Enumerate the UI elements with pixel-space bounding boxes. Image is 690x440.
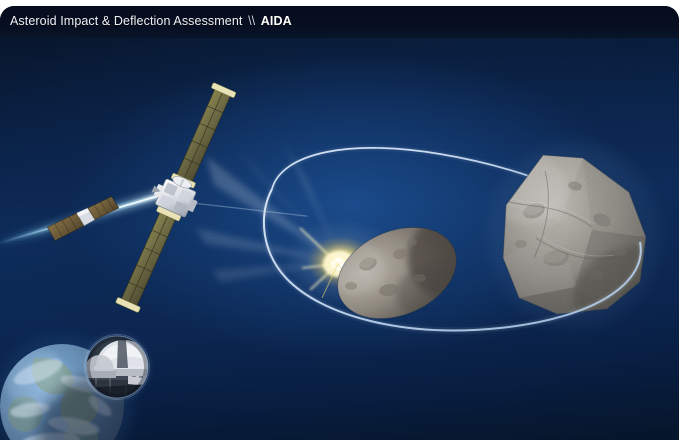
cubesat: [44, 195, 123, 241]
scene-graphic: [0, 6, 679, 440]
page-title: Asteroid Impact & Deflection Assessment …: [10, 14, 292, 28]
title-bar: Asteroid Impact & Deflection Assessment …: [0, 6, 679, 38]
title-acronym: AIDA: [261, 14, 292, 28]
right-margin: [679, 0, 690, 440]
scene: [0, 6, 679, 440]
screenshot-root: Asteroid Impact & Deflection Assessment …: [0, 0, 690, 440]
aida-illustration-panel: Asteroid Impact & Deflection Assessment …: [0, 6, 679, 440]
top-margin: [0, 0, 690, 6]
primary-asteroid: [487, 143, 679, 350]
title-separator: \\: [246, 14, 257, 28]
title-prefix: Asteroid Impact & Deflection Assessment: [10, 14, 242, 28]
